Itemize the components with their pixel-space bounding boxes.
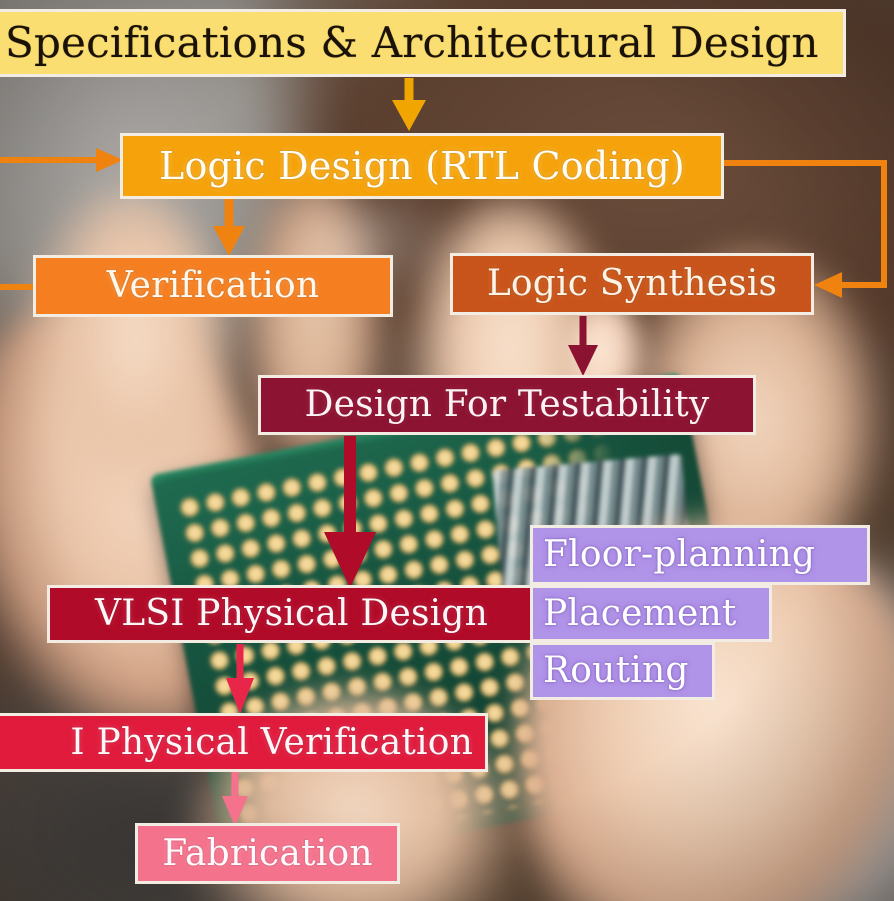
node-vlsi-physical-design[interactable]: VLSI Physical Design: [47, 585, 536, 643]
node-physical-verification[interactable]: I Physical Verification: [0, 713, 488, 772]
node-label: Floor-planning: [543, 537, 867, 573]
node-floor-planning[interactable]: Floor-planning: [530, 525, 870, 585]
node-label: Placement: [543, 596, 769, 632]
node-label: VLSI Physical Design: [50, 596, 533, 632]
node-label: Routing: [543, 653, 712, 689]
node-label: Design For Testability: [261, 387, 753, 423]
vlsi-design-flow-diagram: Specifications & Architectural Design Lo…: [0, 0, 894, 901]
node-label: Logic Synthesis: [453, 266, 811, 302]
node-specifications-architectural-design[interactable]: Specifications & Architectural Design: [0, 9, 846, 77]
node-routing[interactable]: Routing: [530, 642, 715, 700]
node-design-for-testability[interactable]: Design For Testability: [258, 375, 756, 435]
node-label: I Physical Verification: [0, 725, 473, 761]
node-label: Fabrication: [138, 836, 397, 872]
node-fabrication[interactable]: Fabrication: [135, 823, 400, 884]
node-logic-design-rtl-coding[interactable]: Logic Design (RTL Coding): [120, 133, 724, 199]
node-placement[interactable]: Placement: [530, 585, 772, 642]
node-verification[interactable]: Verification: [33, 255, 393, 317]
node-label: Verification: [36, 268, 390, 304]
flow-nodes: Specifications & Architectural Design Lo…: [0, 0, 894, 901]
node-label: Logic Design (RTL Coding): [123, 147, 721, 185]
node-logic-synthesis[interactable]: Logic Synthesis: [450, 253, 814, 315]
node-label: Specifications & Architectural Design: [5, 22, 843, 64]
